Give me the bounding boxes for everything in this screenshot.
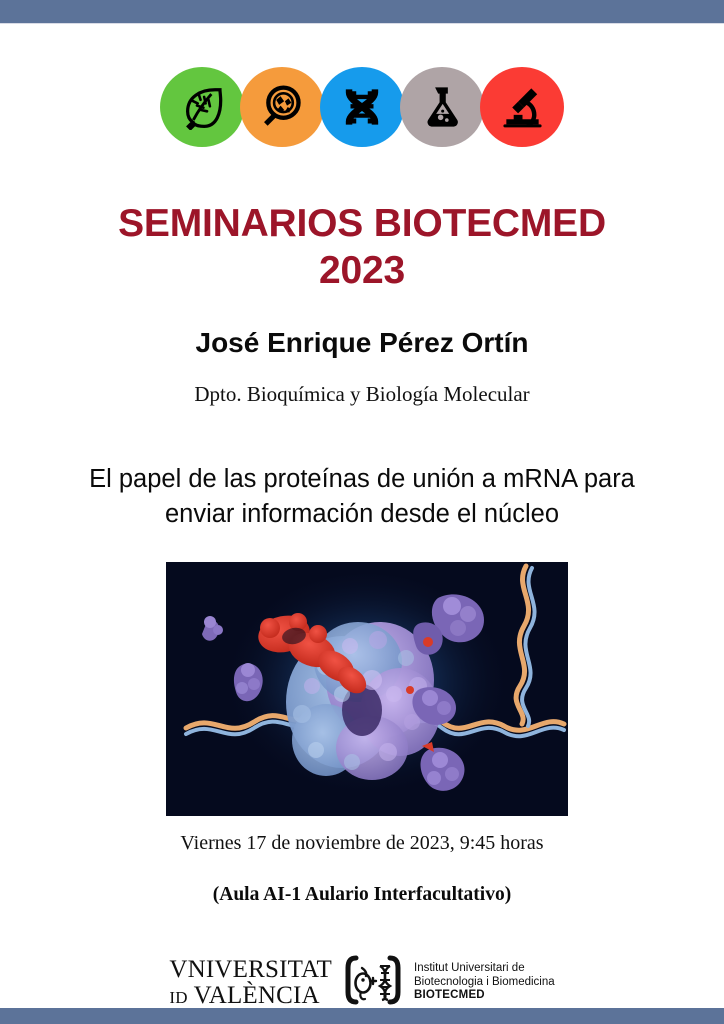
universitat-de-valencia-logo: VNIVERSITAT ID VALÈNCIA xyxy=(169,957,332,1008)
poster-page: SEMINARIOS BIOTECMED 2023 José Enrique P… xyxy=(0,23,724,1008)
uv-logo-line2: ID VALÈNCIA xyxy=(169,983,332,1009)
microscope-icon xyxy=(499,84,546,131)
poster-title-line1: SEMINARIOS BIOTECMED xyxy=(118,202,606,245)
dna-helix-icon xyxy=(339,84,385,130)
institute-line3: BIOTECMED xyxy=(414,989,555,1003)
molecular-structure-figure xyxy=(166,562,568,816)
talk-title-line1: El papel de las proteínas de unión a mRN… xyxy=(0,462,724,497)
uv-logo-line1: VNIVERSITAT xyxy=(169,957,332,983)
institute-line2: Biotecnologia i Biomedicina xyxy=(414,976,555,990)
speaker-department: Dpto. Bioquímica y Biología Molecular xyxy=(0,382,724,407)
viewer-top-bar xyxy=(0,0,724,23)
dna-helix-icon-circle xyxy=(320,67,404,147)
leaf-icon-circle xyxy=(160,67,244,147)
petri-dish-icon xyxy=(259,84,305,130)
icon-strip xyxy=(0,67,724,147)
event-date: Viernes 17 de noviembre de 2023, 9:45 ho… xyxy=(0,832,724,855)
talk-title: El papel de las proteínas de unión a mRN… xyxy=(0,462,724,532)
poster-title-line2: 2023 xyxy=(0,247,724,294)
leaf-icon xyxy=(179,84,225,130)
uv-logo-valencia: VALÈNCIA xyxy=(194,982,320,1009)
poster-title: SEMINARIOS BIOTECMED 2023 xyxy=(0,200,724,294)
footer-logos: VNIVERSITAT ID VALÈNCIA xyxy=(0,954,724,1011)
speaker-name: José Enrique Pérez Ortín xyxy=(0,327,724,359)
event-venue: (Aula AI-1 Aulario Interfacultativo) xyxy=(0,884,724,906)
institute-line1: Institut Universitari de xyxy=(414,962,555,976)
flask-icon-circle xyxy=(400,67,484,147)
uv-logo-de: ID xyxy=(169,988,187,1007)
petri-dish-icon-circle xyxy=(240,67,324,147)
talk-title-line2: enviar información desde el núcleo xyxy=(0,497,724,532)
biotecmed-bracket-icon xyxy=(342,954,404,1011)
microscope-icon-circle xyxy=(480,67,564,147)
institute-name: Institut Universitari de Biotecnologia i… xyxy=(414,962,555,1003)
flask-icon xyxy=(420,85,464,129)
